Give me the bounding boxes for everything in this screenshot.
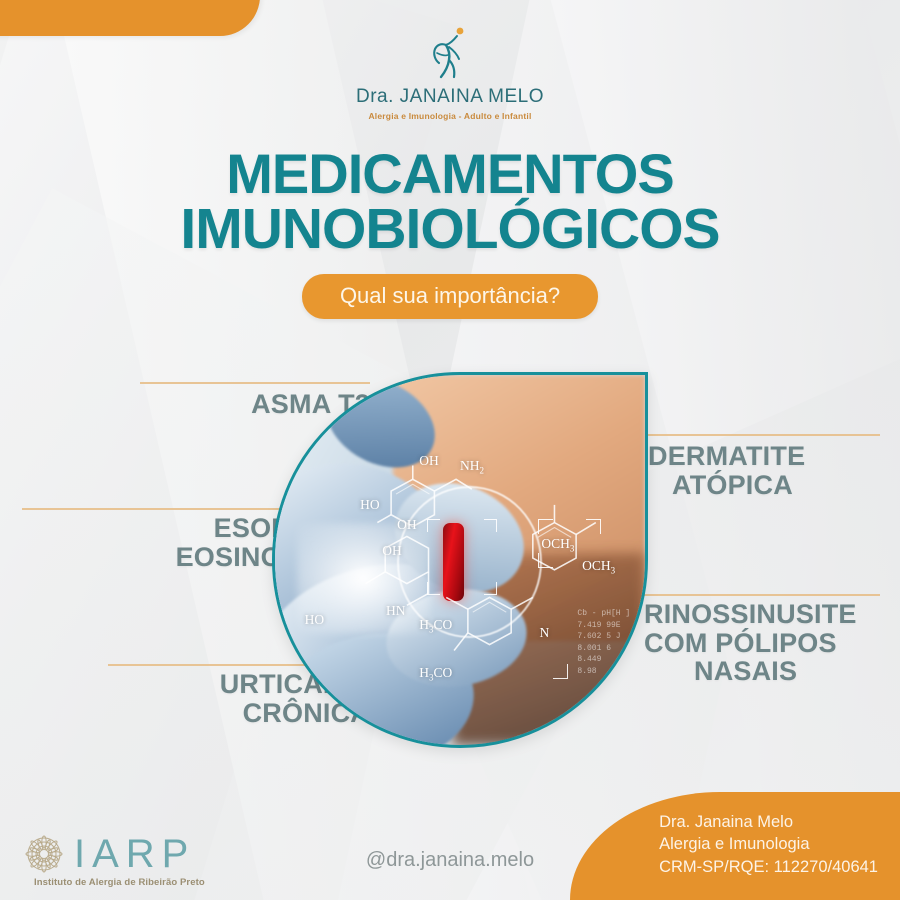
doctor-registration: CRM-SP/RQE: 112270/40641 [659, 856, 878, 878]
condition-label-dermatite: DERMATITEATÓPICA [648, 442, 898, 499]
chem-label: NH2 [460, 458, 484, 476]
doctor-credentials: Dra. Janaina Melo Alergia e Imunologia C… [659, 811, 878, 878]
chem-label: OH [382, 543, 402, 559]
brand-subtitle: Alergia e Imunologia - Adulto e Infantil [0, 111, 900, 121]
chem-label: HO [305, 612, 325, 628]
iarp-tagline: Instituto de Alergia de Ribeirão Preto [34, 877, 205, 888]
chem-label: OH [397, 517, 417, 533]
chem-label: HO [360, 497, 380, 513]
connector-rule-rinossinusite [636, 594, 880, 596]
brand-name: Dra. JANAINA MELO [0, 86, 900, 108]
brand-header: Dra. JANAINA MELO Alergia e Imunologia -… [0, 22, 900, 121]
hero-image-container: OH NH2 HO OH OH HO HN H3CO H3CO OCH3 OCH… [272, 372, 648, 748]
chem-label: OCH3 [541, 536, 574, 554]
chem-label: N [540, 625, 550, 641]
data-readout: Cb - pH[H ] 7.419 99E 7.602 5 J 8.001 6 … [577, 608, 630, 678]
connector-rule-dermatite [636, 434, 880, 436]
doctor-name: Dra. Janaina Melo [659, 811, 878, 833]
condition-label-rinossinusite: RINOSSINUSITECOM PÓLIPOSNASAIS [644, 600, 900, 686]
page-title: MEDICAMENTOS IMUNOBIOLÓGICOS Qual sua im… [0, 146, 900, 319]
dancing-figure-logo-icon [419, 22, 481, 84]
chem-label: OCH3 [582, 558, 615, 576]
chem-label: H3CO [419, 617, 452, 635]
poster-canvas: Dra. JANAINA MELO Alergia e Imunologia -… [0, 0, 900, 900]
hero-image-disc: OH NH2 HO OH OH HO HN H3CO H3CO OCH3 OCH… [272, 372, 648, 748]
doctor-specialty: Alergia e Imunologia [659, 833, 878, 855]
title-line-2: IMUNOBIOLÓGICOS [0, 201, 900, 257]
chem-label: H3CO [419, 665, 452, 683]
subtitle-badge: Qual sua importância? [302, 274, 598, 319]
chem-label: HN [386, 603, 406, 619]
chem-label: OH [419, 453, 439, 469]
title-line-1: MEDICAMENTOS [0, 146, 900, 201]
